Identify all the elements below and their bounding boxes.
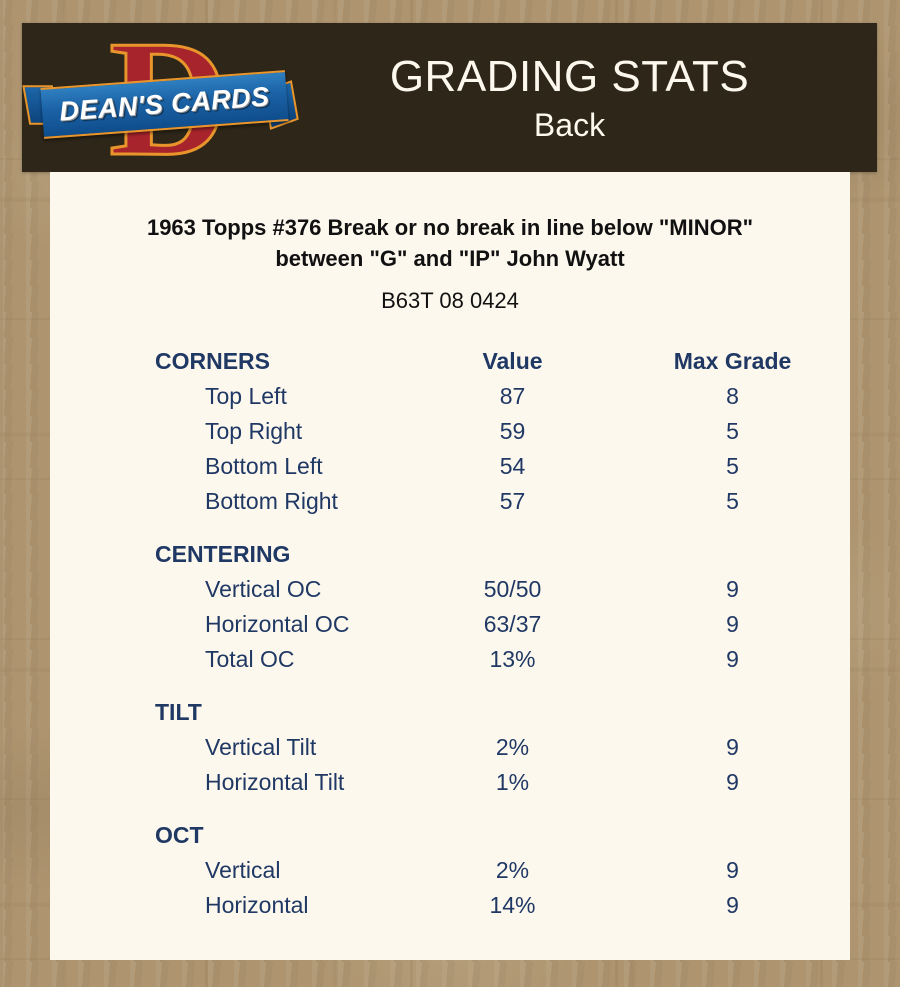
column-header-max-grade bbox=[615, 800, 850, 853]
table-row: Horizontal OC63/379 bbox=[50, 607, 850, 642]
card-description: 1963 Topps #376 Break or no break in lin… bbox=[106, 212, 794, 274]
table-row: Top Left878 bbox=[50, 379, 850, 414]
table-row: Bottom Right575 bbox=[50, 484, 850, 519]
row-value: 54 bbox=[410, 449, 615, 484]
row-value: 13% bbox=[410, 642, 615, 677]
row-value: 87 bbox=[410, 379, 615, 414]
table-row: Bottom Left545 bbox=[50, 449, 850, 484]
column-header-max-grade bbox=[615, 519, 850, 572]
content-panel: 1963 Topps #376 Break or no break in lin… bbox=[50, 172, 850, 960]
row-max-grade: 9 bbox=[615, 572, 850, 607]
table-row: Horizontal Tilt1%9 bbox=[50, 765, 850, 800]
row-max-grade: 9 bbox=[615, 853, 850, 888]
page-title: GRADING STATS bbox=[302, 51, 837, 103]
row-max-grade: 9 bbox=[615, 888, 850, 923]
deans-cards-logo[interactable]: D DEAN'S CARDS bbox=[22, 23, 302, 172]
logo-banner-text: DEAN'S CARDS bbox=[58, 81, 270, 127]
section-title: TILT bbox=[50, 677, 410, 730]
row-label: Top Right bbox=[50, 414, 410, 449]
logo-banner: DEAN'S CARDS bbox=[40, 70, 288, 139]
row-max-grade: 9 bbox=[615, 642, 850, 677]
row-label: Bottom Left bbox=[50, 449, 410, 484]
section-header-row: CENTERING bbox=[50, 519, 850, 572]
row-max-grade: 9 bbox=[615, 607, 850, 642]
row-label: Top Left bbox=[50, 379, 410, 414]
row-value: 50/50 bbox=[410, 572, 615, 607]
column-header-value: Value bbox=[410, 344, 615, 379]
row-label: Bottom Right bbox=[50, 484, 410, 519]
column-header-value bbox=[410, 519, 615, 572]
row-label: Horizontal Tilt bbox=[50, 765, 410, 800]
table-row: Vertical Tilt2%9 bbox=[50, 730, 850, 765]
row-max-grade: 5 bbox=[615, 484, 850, 519]
section-title: OCT bbox=[50, 800, 410, 853]
column-header-value bbox=[410, 800, 615, 853]
section-header-row: OCT bbox=[50, 800, 850, 853]
row-max-grade: 5 bbox=[615, 449, 850, 484]
row-max-grade: 8 bbox=[615, 379, 850, 414]
column-header-max-grade: Max Grade bbox=[615, 344, 850, 379]
table-row: Horizontal14%9 bbox=[50, 888, 850, 923]
section-header-row: TILT bbox=[50, 677, 850, 730]
page-subtitle: Back bbox=[302, 105, 837, 145]
row-value: 63/37 bbox=[410, 607, 615, 642]
column-header-max-grade bbox=[615, 677, 850, 730]
row-value: 1% bbox=[410, 765, 615, 800]
row-max-grade: 5 bbox=[615, 414, 850, 449]
section-title: CORNERS bbox=[50, 344, 410, 379]
row-max-grade: 9 bbox=[615, 765, 850, 800]
table-row: Vertical2%9 bbox=[50, 853, 850, 888]
table-row: Top Right595 bbox=[50, 414, 850, 449]
table-row: Total OC13%9 bbox=[50, 642, 850, 677]
row-label: Vertical OC bbox=[50, 572, 410, 607]
grading-stats-table: CORNERSValueMax GradeTop Left878Top Righ… bbox=[50, 344, 850, 923]
row-label: Vertical Tilt bbox=[50, 730, 410, 765]
row-value: 14% bbox=[410, 888, 615, 923]
column-header-value bbox=[410, 677, 615, 730]
row-label: Horizontal bbox=[50, 888, 410, 923]
section-title: CENTERING bbox=[50, 519, 410, 572]
row-value: 2% bbox=[410, 730, 615, 765]
table-row: Vertical OC50/509 bbox=[50, 572, 850, 607]
row-max-grade: 9 bbox=[615, 730, 850, 765]
row-value: 59 bbox=[410, 414, 615, 449]
card-code: B63T 08 0424 bbox=[50, 288, 850, 314]
header-title-group: GRADING STATS Back bbox=[302, 51, 877, 145]
row-label: Horizontal OC bbox=[50, 607, 410, 642]
row-label: Total OC bbox=[50, 642, 410, 677]
row-value: 57 bbox=[410, 484, 615, 519]
row-label: Vertical bbox=[50, 853, 410, 888]
section-header-row: CORNERSValueMax Grade bbox=[50, 344, 850, 379]
header-band: D DEAN'S CARDS GRADING STATS Back bbox=[22, 23, 877, 172]
row-value: 2% bbox=[410, 853, 615, 888]
